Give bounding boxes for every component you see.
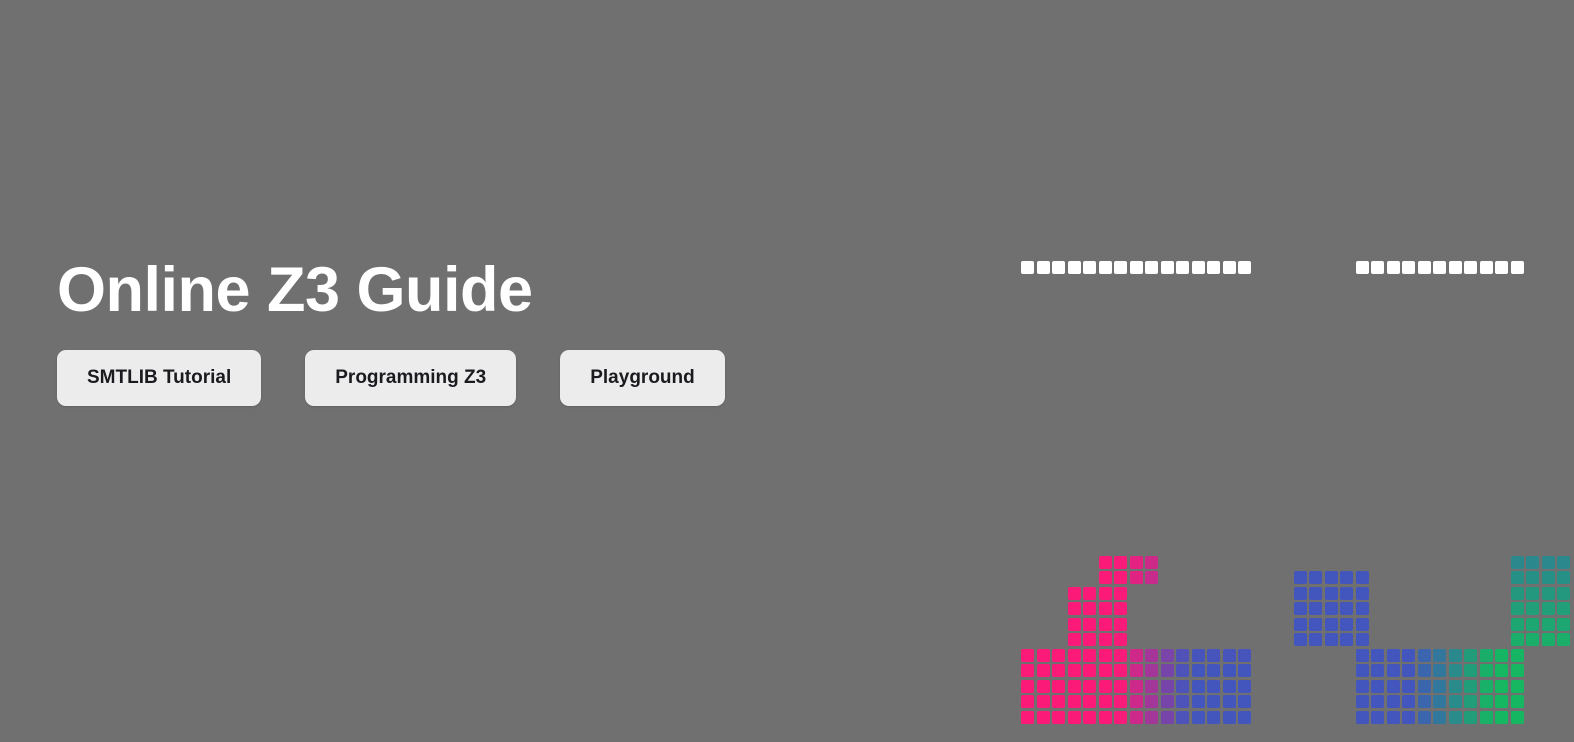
logo-pixel <box>1145 323 1158 336</box>
logo-pixel <box>1238 664 1251 677</box>
logo-pixel <box>1130 649 1143 662</box>
logo-pixel <box>1223 354 1236 367</box>
logo-pixel <box>1099 618 1112 631</box>
logo-pixel <box>1356 261 1369 274</box>
logo-pixel <box>1223 680 1236 693</box>
logo-pixel <box>1356 308 1369 321</box>
logo-pixel <box>1387 664 1400 677</box>
logo-pixel <box>1340 401 1353 414</box>
logo-pixel <box>1356 602 1369 615</box>
logo-pixel <box>1449 680 1462 693</box>
logo-pixel <box>1387 323 1400 336</box>
logo-pixel <box>1309 339 1322 352</box>
logo-pixel <box>1356 711 1369 724</box>
logo-pixel <box>1526 540 1539 553</box>
logo-pixel <box>1387 695 1400 708</box>
logo-pixel <box>1099 602 1112 615</box>
logo-pixel <box>1387 509 1400 522</box>
logo-pixel <box>1495 478 1508 491</box>
logo-pixel <box>1161 494 1174 507</box>
logo-pixel <box>1161 478 1174 491</box>
logo-pixel <box>1464 711 1477 724</box>
logo-pixel <box>1192 649 1205 662</box>
logo-pixel <box>1192 292 1205 305</box>
logo-pixel <box>1402 447 1415 460</box>
logo-pixel <box>1114 308 1127 321</box>
logo-pixel <box>1114 664 1127 677</box>
logo-pixel <box>1114 649 1127 662</box>
logo-pixel <box>1309 571 1322 584</box>
logo-pixel <box>1238 680 1251 693</box>
logo-pixel <box>1542 478 1555 491</box>
logo-pixel <box>1340 633 1353 646</box>
logo-pixel <box>1449 509 1462 522</box>
logo-pixel <box>1176 292 1189 305</box>
logo-pixel <box>1402 664 1415 677</box>
logo-pixel <box>1511 261 1524 274</box>
logo-pixel <box>1068 292 1081 305</box>
logo-pixel <box>1356 339 1369 352</box>
logo-pixel <box>1356 370 1369 383</box>
logo-pixel <box>1083 308 1096 321</box>
logo-pixel <box>1130 261 1143 274</box>
logo-pixel <box>1356 618 1369 631</box>
logo-pixel <box>1526 354 1539 367</box>
logo-pixel <box>1068 308 1081 321</box>
logo-pixel <box>1542 432 1555 445</box>
logo-pixel <box>1223 339 1236 352</box>
logo-pixel <box>1495 308 1508 321</box>
logo-pixel <box>1542 401 1555 414</box>
logo-pixel <box>1371 277 1384 290</box>
logo-pixel <box>1192 261 1205 274</box>
logo-pixel <box>1294 370 1307 383</box>
logo-pixel <box>1387 277 1400 290</box>
logo-pixel <box>1449 478 1462 491</box>
logo-pixel <box>1114 618 1127 631</box>
logo-pixel <box>1294 401 1307 414</box>
hero-content: Online Z3 Guide SMTLIB Tutorial Programm… <box>57 258 977 406</box>
logo-pixel <box>1418 261 1431 274</box>
logo-pixel <box>1130 680 1143 693</box>
logo-pixel <box>1402 649 1415 662</box>
logo-pixel <box>1449 447 1462 460</box>
logo-pixel <box>1433 695 1446 708</box>
logo-pixel <box>1309 633 1322 646</box>
logo-pixel <box>1130 556 1143 569</box>
logo-pixel <box>1511 401 1524 414</box>
logo-pixel <box>1495 261 1508 274</box>
logo-pixel <box>1145 649 1158 662</box>
logo-pixel <box>1130 664 1143 677</box>
glyph-z-icon <box>1021 261 1254 726</box>
logo-pixel <box>1511 354 1524 367</box>
logo-pixel <box>1418 478 1431 491</box>
logo-pixel <box>1207 370 1220 383</box>
logo-pixel <box>1083 695 1096 708</box>
logo-pixel <box>1192 432 1205 445</box>
logo-pixel <box>1052 664 1065 677</box>
logo-pixel <box>1238 354 1251 367</box>
logo-pixel <box>1176 401 1189 414</box>
logo-pixel <box>1052 292 1065 305</box>
logo-pixel <box>1068 695 1081 708</box>
logo-pixel <box>1114 587 1127 600</box>
logo-pixel <box>1356 323 1369 336</box>
logo-pixel <box>1114 261 1127 274</box>
logo-pixel <box>1495 649 1508 662</box>
logo-pixel <box>1207 680 1220 693</box>
logo-pixel <box>1099 587 1112 600</box>
logo-pixel <box>1052 323 1065 336</box>
logo-pixel <box>1495 711 1508 724</box>
logo-pixel <box>1371 494 1384 507</box>
programming-z3-button[interactable]: Programming Z3 <box>305 350 516 406</box>
logo-pixel <box>1145 711 1158 724</box>
logo-pixel <box>1099 695 1112 708</box>
logo-pixel <box>1207 695 1220 708</box>
logo-pixel <box>1542 587 1555 600</box>
logo-pixel <box>1449 494 1462 507</box>
logo-pixel <box>1433 509 1446 522</box>
logo-pixel <box>1294 339 1307 352</box>
logo-pixel <box>1433 261 1446 274</box>
logo-pixel <box>1238 695 1251 708</box>
logo-pixel <box>1161 261 1174 274</box>
logo-pixel <box>1511 385 1524 398</box>
logo-pixel <box>1464 277 1477 290</box>
logo-pixel <box>1037 664 1050 677</box>
logo-pixel <box>1433 664 1446 677</box>
logo-pixel <box>1130 308 1143 321</box>
logo-pixel <box>1526 571 1539 584</box>
logo-pixel <box>1480 695 1493 708</box>
logo-pixel <box>1238 261 1251 274</box>
logo-pixel <box>1161 432 1174 445</box>
logo-pixel <box>1130 540 1143 553</box>
logo-pixel <box>1325 354 1338 367</box>
logo-pixel <box>1325 618 1338 631</box>
logo-pixel <box>1356 649 1369 662</box>
logo-pixel <box>1511 277 1524 290</box>
logo-pixel <box>1192 695 1205 708</box>
logo-pixel <box>1356 571 1369 584</box>
logo-pixel <box>1145 556 1158 569</box>
logo-pixel <box>1238 292 1251 305</box>
logo-pixel <box>1083 680 1096 693</box>
logo-pixel <box>1114 540 1127 553</box>
logo-pixel <box>1083 711 1096 724</box>
logo-pixel <box>1130 463 1143 476</box>
logo-pixel <box>1542 385 1555 398</box>
logo-pixel <box>1526 525 1539 538</box>
logo-pixel <box>1371 463 1384 476</box>
logo-pixel <box>1387 649 1400 662</box>
logo-pixel <box>1480 447 1493 460</box>
logo-pixel <box>1176 447 1189 460</box>
logo-pixel <box>1021 277 1034 290</box>
logo-pixel <box>1325 370 1338 383</box>
logo-pixel <box>1557 633 1570 646</box>
logo-pixel <box>1449 277 1462 290</box>
logo-pixel <box>1161 277 1174 290</box>
page-title: Online Z3 Guide <box>57 258 977 324</box>
logo-pixel <box>1464 463 1477 476</box>
logo-pixel <box>1052 695 1065 708</box>
logo-pixel <box>1449 695 1462 708</box>
logo-pixel <box>1083 323 1096 336</box>
logo-pixel <box>1526 370 1539 383</box>
logo-pixel <box>1371 695 1384 708</box>
logo-pixel <box>1402 463 1415 476</box>
logo-pixel <box>1526 416 1539 429</box>
logo-pixel <box>1145 261 1158 274</box>
logo-pixel <box>1526 478 1539 491</box>
logo-pixel <box>1161 416 1174 429</box>
logo-pixel <box>1464 478 1477 491</box>
logo-pixel <box>1176 323 1189 336</box>
logo-pixel <box>1464 323 1477 336</box>
logo-pixel <box>1037 261 1050 274</box>
logo-pixel <box>1176 261 1189 274</box>
logo-pixel <box>1387 478 1400 491</box>
logo-pixel <box>1557 447 1570 460</box>
logo-pixel <box>1464 292 1477 305</box>
logo-pixel <box>1207 339 1220 352</box>
logo-pixel <box>1418 447 1431 460</box>
logo-pixel <box>1542 602 1555 615</box>
logo-pixel <box>1176 649 1189 662</box>
logo-pixel <box>1495 323 1508 336</box>
logo-pixel <box>1511 463 1524 476</box>
logo-pixel <box>1145 308 1158 321</box>
logo-pixel <box>1480 478 1493 491</box>
logo-pixel <box>1526 339 1539 352</box>
logo-pixel <box>1526 602 1539 615</box>
logo-pixel <box>1145 478 1158 491</box>
logo-pixel <box>1480 261 1493 274</box>
logo-pixel <box>1192 401 1205 414</box>
logo-pixel <box>1464 664 1477 677</box>
logo-pixel <box>1068 323 1081 336</box>
logo-pixel <box>1130 711 1143 724</box>
logo-pixel <box>1021 649 1034 662</box>
logo-pixel <box>1223 649 1236 662</box>
logo-pixel <box>1145 664 1158 677</box>
logo-pixel <box>1464 447 1477 460</box>
logo-pixel <box>1192 308 1205 321</box>
logo-pixel <box>1176 463 1189 476</box>
logo-pixel <box>1207 711 1220 724</box>
logo-pixel <box>1145 463 1158 476</box>
logo-pixel <box>1340 571 1353 584</box>
logo-pixel <box>1464 695 1477 708</box>
logo-pixel <box>1176 308 1189 321</box>
logo-pixel <box>1294 385 1307 398</box>
logo-pixel <box>1068 618 1081 631</box>
logo-pixel <box>1387 447 1400 460</box>
logo-pixel <box>1068 587 1081 600</box>
logo-pixel <box>1542 416 1555 429</box>
logo-pixel <box>1207 401 1220 414</box>
logo-pixel <box>1371 680 1384 693</box>
logo-pixel <box>1325 339 1338 352</box>
logo-pixel <box>1192 354 1205 367</box>
logo-pixel <box>1130 509 1143 522</box>
logo-pixel <box>1356 401 1369 414</box>
logo-pixel <box>1037 695 1050 708</box>
logo-pixel <box>1557 385 1570 398</box>
logo-pixel <box>1449 711 1462 724</box>
logo-pixel <box>1557 478 1570 491</box>
logo-pixel <box>1511 680 1524 693</box>
logo-pixel <box>1356 633 1369 646</box>
logo-pixel <box>1464 680 1477 693</box>
logo-pixel <box>1161 401 1174 414</box>
logo-pixel <box>1099 664 1112 677</box>
logo-pixel <box>1356 277 1369 290</box>
logo-pixel <box>1340 385 1353 398</box>
logo-pixel <box>1114 633 1127 646</box>
logo-pixel <box>1207 664 1220 677</box>
logo-pixel <box>1099 525 1112 538</box>
logo-pixel <box>1192 416 1205 429</box>
logo-pixel <box>1557 432 1570 445</box>
logo-pixel <box>1433 277 1446 290</box>
logo-pixel <box>1542 618 1555 631</box>
logo-pixel <box>1309 401 1322 414</box>
logo-pixel <box>1356 463 1369 476</box>
logo-pixel <box>1052 277 1065 290</box>
logo-pixel <box>1433 308 1446 321</box>
logo-pixel <box>1068 261 1081 274</box>
logo-pixel <box>1464 509 1477 522</box>
logo-pixel <box>1238 385 1251 398</box>
logo-pixel <box>1021 323 1034 336</box>
logo-pixel <box>1294 354 1307 367</box>
logo-pixel <box>1099 711 1112 724</box>
logo-pixel <box>1542 370 1555 383</box>
logo-pixel <box>1542 525 1555 538</box>
logo-pixel <box>1402 277 1415 290</box>
logo-pixel <box>1402 323 1415 336</box>
logo-pixel <box>1387 711 1400 724</box>
logo-pixel <box>1542 633 1555 646</box>
logo-pixel <box>1130 323 1143 336</box>
logo-pixel <box>1099 633 1112 646</box>
logo-pixel <box>1238 339 1251 352</box>
logo-pixel <box>1511 633 1524 646</box>
logo-pixel <box>1526 463 1539 476</box>
logo-pixel <box>1356 680 1369 693</box>
logo-pixel <box>1309 385 1322 398</box>
playground-button[interactable]: Playground <box>560 350 725 406</box>
glyph-3-icon <box>1294 261 1573 726</box>
logo-pixel <box>1037 711 1050 724</box>
logo-pixel <box>1480 649 1493 662</box>
logo-pixel <box>1511 602 1524 615</box>
logo-pixel <box>1114 695 1127 708</box>
logo-pixel <box>1238 649 1251 662</box>
logo-pixel <box>1464 308 1477 321</box>
logo-pixel <box>1192 323 1205 336</box>
logo-pixel <box>1114 711 1127 724</box>
logo-pixel <box>1083 649 1096 662</box>
logo-pixel <box>1495 680 1508 693</box>
logo-pixel <box>1542 354 1555 367</box>
logo-pixel <box>1161 447 1174 460</box>
logo-pixel <box>1145 494 1158 507</box>
logo-pixel <box>1130 695 1143 708</box>
logo-pixel <box>1418 292 1431 305</box>
logo-pixel <box>1526 618 1539 631</box>
logo-pixel <box>1223 711 1236 724</box>
logo-pixel <box>1418 695 1431 708</box>
logo-pixel <box>1052 261 1065 274</box>
logo-pixel <box>1161 323 1174 336</box>
logo-pixel <box>1480 292 1493 305</box>
logo-pixel <box>1114 571 1127 584</box>
logo-pixel <box>1068 277 1081 290</box>
logo-pixel <box>1356 509 1369 522</box>
logo-pixel <box>1037 323 1050 336</box>
logo-pixel <box>1052 680 1065 693</box>
logo-pixel <box>1526 385 1539 398</box>
logo-pixel <box>1542 339 1555 352</box>
logo-pixel <box>1418 649 1431 662</box>
logo-pixel <box>1192 385 1205 398</box>
logo-pixel <box>1464 494 1477 507</box>
logo-pixel <box>1418 277 1431 290</box>
logo-pixel <box>1207 292 1220 305</box>
logo-pixel <box>1402 680 1415 693</box>
logo-pixel <box>1114 525 1127 538</box>
logo-pixel <box>1356 385 1369 398</box>
logo-pixel <box>1099 323 1112 336</box>
logo-pixel <box>1557 416 1570 429</box>
logo-pixel <box>1511 416 1524 429</box>
logo-pixel <box>1114 277 1127 290</box>
logo-pixel <box>1418 509 1431 522</box>
logo-pixel <box>1238 308 1251 321</box>
smtlib-tutorial-button[interactable]: SMTLIB Tutorial <box>57 350 261 406</box>
logo-pixel <box>1371 323 1384 336</box>
logo-pixel <box>1402 308 1415 321</box>
logo-pixel <box>1068 711 1081 724</box>
logo-pixel <box>1557 587 1570 600</box>
logo-pixel <box>1145 571 1158 584</box>
logo-pixel <box>1223 323 1236 336</box>
logo-pixel <box>1433 323 1446 336</box>
logo-pixel <box>1387 308 1400 321</box>
logo-pixel <box>1161 711 1174 724</box>
logo-pixel <box>1114 556 1127 569</box>
logo-pixel <box>1161 308 1174 321</box>
logo-pixel <box>1099 292 1112 305</box>
logo-pixel <box>1511 509 1524 522</box>
logo-pixel <box>1192 680 1205 693</box>
logo-pixel <box>1526 633 1539 646</box>
logo-pixel <box>1176 664 1189 677</box>
hero-section: Online Z3 Guide SMTLIB Tutorial Programm… <box>0 0 1574 742</box>
logo-pixel <box>1340 587 1353 600</box>
logo-pixel <box>1464 649 1477 662</box>
logo-pixel <box>1387 463 1400 476</box>
logo-pixel <box>1433 711 1446 724</box>
logo-pixel <box>1511 494 1524 507</box>
logo-pixel <box>1176 509 1189 522</box>
logo-pixel <box>1402 292 1415 305</box>
